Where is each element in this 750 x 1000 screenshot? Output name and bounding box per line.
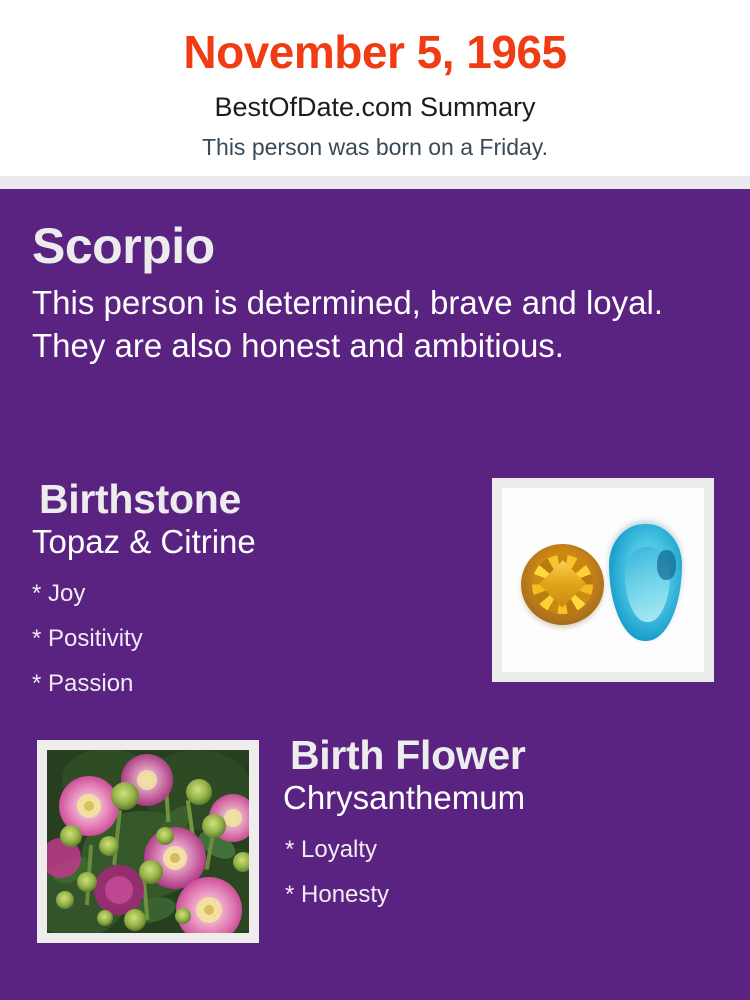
birth-flower-section: Birth Flower Chrysanthemum * Loyalty * H… (283, 734, 723, 918)
card-header: November 5, 1965 BestOfDate.com Summary … (0, 0, 750, 176)
birth-flower-image (47, 750, 249, 933)
birthstone-name: Topaz & Citrine (32, 521, 462, 561)
birth-flower-image-frame (37, 740, 259, 943)
site-summary-label: BestOfDate.com Summary (0, 75, 750, 121)
card-body: Scorpio This person is determined, brave… (0, 189, 750, 1000)
list-item: * Passion (32, 662, 462, 707)
birthstone-section: Birthstone Topaz & Citrine * Joy * Posit… (32, 478, 462, 706)
birth-flower-trait-list: * Loyalty * Honesty (283, 817, 723, 917)
birthstone-image (502, 488, 704, 672)
header-divider (0, 176, 750, 189)
birthday-summary-card: November 5, 1965 BestOfDate.com Summary … (0, 0, 750, 1000)
list-item: * Loyalty (283, 828, 723, 873)
born-weekday-text: This person was born on a Friday. (0, 121, 750, 159)
page-title: November 5, 1965 (0, 0, 750, 75)
birthstone-trait-list: * Joy * Positivity * Passion (32, 561, 462, 706)
list-item: * Positivity (32, 617, 462, 662)
birth-flower-name: Chrysanthemum (283, 777, 723, 817)
zodiac-section: Scorpio This person is determined, brave… (32, 220, 712, 368)
birthstone-image-frame (492, 478, 714, 682)
list-item: * Joy (32, 572, 462, 617)
citrine-gem-icon (521, 544, 604, 625)
list-item: * Honesty (283, 873, 723, 918)
topaz-gem-icon (609, 524, 682, 641)
birthstone-heading: Birthstone (32, 478, 462, 521)
birth-flower-heading: Birth Flower (283, 734, 723, 777)
chrysanthemum-illustration (47, 750, 249, 933)
zodiac-sign-name: Scorpio (32, 220, 712, 273)
zodiac-description: This person is determined, brave and loy… (32, 273, 692, 368)
